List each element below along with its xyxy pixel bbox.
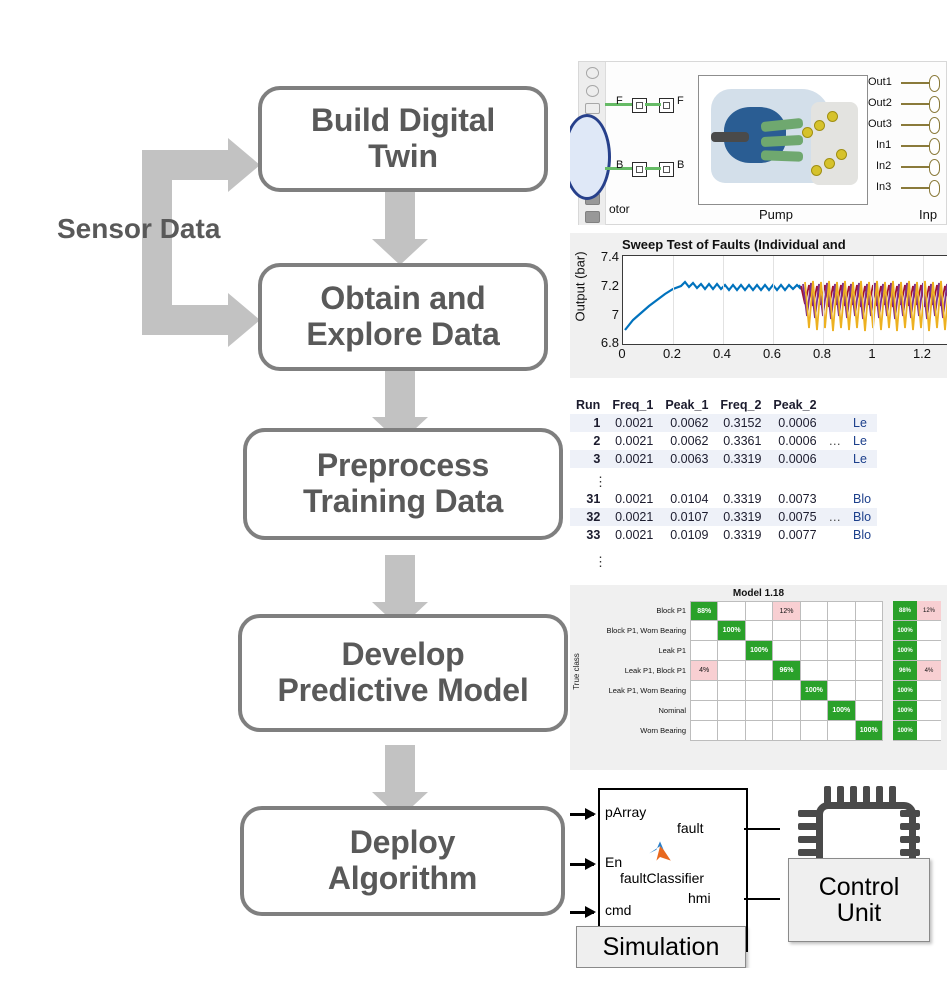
port-label-in1: In1 <box>876 139 891 151</box>
confusion-matrix-cell <box>746 621 773 641</box>
cell-peak2: 0.0006 <box>767 414 822 432</box>
port-label-out1: Out1 <box>868 76 892 88</box>
cell-run: 31 <box>570 490 606 508</box>
confusion-matrix-row: Worn Bearing100%100% <box>578 721 941 741</box>
input-label-parray: pArray <box>605 804 646 820</box>
confusion-matrix-cell <box>801 621 828 641</box>
workflow-step-obtain-explore-data[interactable]: Obtain andExplore Data <box>258 263 548 371</box>
port-label-out3: Out3 <box>868 118 892 130</box>
workflow-step-preprocess-training-data[interactable]: PreprocessTraining Data <box>243 428 563 540</box>
cell-ellipsis <box>823 526 848 544</box>
confusion-matrix-row: Leak P1, Block P14%96%96%4% <box>578 661 941 681</box>
col-freq2: Freq_2 <box>714 396 767 414</box>
port-label-out2: Out2 <box>868 97 892 109</box>
step-label: DevelopPredictive Model <box>277 637 528 709</box>
table-trailing-ellipsis: ⋮ <box>594 554 608 570</box>
cell-run: 33 <box>570 526 606 544</box>
confusion-matrix-title: Model 1.18 <box>570 588 947 599</box>
confusion-matrix-cell <box>718 681 745 701</box>
confusion-matrix-cell <box>690 721 718 741</box>
cell-run: 3 <box>570 450 606 468</box>
chart-plot-area <box>622 255 947 345</box>
confusion-matrix-cell <box>690 701 718 721</box>
connector-arrow-3 <box>385 555 415 603</box>
wire-out1 <box>901 82 931 84</box>
cell-peak2: 0.0075 <box>767 508 822 526</box>
confusion-matrix-cell <box>690 621 718 641</box>
chart-title: Sweep Test of Faults (Individual and <box>622 237 846 252</box>
input-label-cmd: cmd <box>605 902 631 918</box>
col-ellipsis <box>823 396 848 414</box>
confusion-matrix-cell <box>746 661 773 681</box>
confusion-matrix-cell <box>801 721 828 741</box>
table-leading-ellipsis: ⋮ <box>594 474 608 490</box>
chart-series-paths <box>623 256 947 344</box>
input-block-label: Inp <box>919 207 937 222</box>
connector-arrow-1 <box>385 192 415 240</box>
cell-peak2: 0.0006 <box>767 432 822 450</box>
table-row[interactable]: 30.00210.00630.33190.0006Le <box>570 450 877 468</box>
confusion-matrix-cell <box>718 641 745 661</box>
confusion-matrix-summary-correct: 100% <box>893 681 917 701</box>
y-tick-7: 7 <box>579 307 619 322</box>
x-tick-0: 0 <box>605 346 639 361</box>
input-arrow-parray <box>570 813 594 816</box>
step-label: PreprocessTraining Data <box>303 448 503 520</box>
confusion-matrix-cell <box>828 601 855 621</box>
confusion-matrix-cell <box>773 681 800 701</box>
confusion-matrix-cell <box>856 641 883 661</box>
confusion-matrix-cell <box>828 681 855 701</box>
cell-label: Le <box>847 450 877 468</box>
cell-freq2: 0.3361 <box>714 432 767 450</box>
confusion-matrix-cell <box>828 621 855 641</box>
confusion-matrix-cells: 100% <box>690 681 883 701</box>
confusion-matrix-cells: 100% <box>690 621 883 641</box>
cell-run: 2 <box>570 432 606 450</box>
input-arrow-cmd <box>570 911 594 914</box>
confusion-matrix-summary-incorrect <box>917 641 941 661</box>
confusion-matrix-cell: 4% <box>690 661 718 681</box>
feature-table-thumbnail[interactable]: Run Freq_1 Peak_1 Freq_2 Peak_2 10.00210… <box>570 392 947 577</box>
cell-freq2: 0.3152 <box>714 414 767 432</box>
x-tick-1: 1 <box>855 346 889 361</box>
col-peak2: Peak_2 <box>767 396 822 414</box>
cell-freq1: 0.0021 <box>606 432 659 450</box>
confusion-matrix-cell: 100% <box>746 641 773 661</box>
confusion-matrix-row-label: Nominal <box>578 701 690 721</box>
cell-peak2: 0.0073 <box>767 490 822 508</box>
cell-label: Le <box>847 432 877 450</box>
confusion-matrix-cell <box>828 641 855 661</box>
confusion-matrix-cell: 88% <box>690 601 718 621</box>
confusion-matrix-summary-correct: 96% <box>893 661 917 681</box>
input-label-en: En <box>605 854 622 870</box>
confusion-matrix-cell <box>746 701 773 721</box>
connector-out2[interactable] <box>929 96 940 113</box>
confusion-matrix-cell <box>773 721 800 741</box>
cell-label: Blo <box>847 508 877 526</box>
motor-block-label: otor <box>609 202 630 216</box>
step-label: Build DigitalTwin <box>311 103 495 175</box>
cell-peak1: 0.0062 <box>659 414 714 432</box>
control-unit-tag[interactable]: ControlUnit <box>788 858 930 942</box>
cell-ellipsis: … <box>823 508 848 526</box>
wire-in3 <box>901 187 931 189</box>
cell-freq2: 0.3319 <box>714 508 767 526</box>
confusion-matrix-cell <box>690 641 718 661</box>
cell-freq1: 0.0021 <box>606 450 659 468</box>
confusion-matrix-cell <box>801 701 828 721</box>
confusion-matrix-cell: 100% <box>718 621 745 641</box>
port-label-in3: In3 <box>876 181 891 193</box>
wire-out2 <box>901 103 931 105</box>
port-label-f-left: F <box>616 95 623 107</box>
confusion-matrix-cells: 100% <box>690 701 883 721</box>
confusion-matrix-cells: 4%96% <box>690 661 883 681</box>
confusion-matrix-cell <box>828 661 855 681</box>
confusion-matrix-row: Nominal100%100% <box>578 701 941 721</box>
col-run: Run <box>570 396 606 414</box>
confusion-matrix-cell <box>856 701 883 721</box>
input-arrow-en <box>570 863 594 866</box>
cell-peak1: 0.0104 <box>659 490 714 508</box>
confusion-matrix-cell <box>773 641 800 661</box>
confusion-matrix-row-label: Block P1, Worn Bearing <box>578 621 690 641</box>
confusion-matrix-row-label: Worn Bearing <box>578 721 690 741</box>
confusion-matrix-cell <box>746 601 773 621</box>
cell-ellipsis <box>823 414 848 432</box>
confusion-matrix-cell <box>801 641 828 661</box>
confusion-matrix-cells: 88%12% <box>690 601 883 621</box>
output-wire-hmi <box>744 898 780 900</box>
confusion-matrix-summary-correct: 100% <box>893 621 917 641</box>
connector-arrow-4 <box>385 745 415 793</box>
confusion-matrix-cell <box>856 661 883 681</box>
col-peak1: Peak_1 <box>659 396 714 414</box>
pump-illustration <box>705 82 861 194</box>
pump-block[interactable] <box>698 75 868 205</box>
connector-arrow-2 <box>385 370 415 418</box>
cell-ellipsis <box>823 490 848 508</box>
confusion-matrix-cell <box>718 701 745 721</box>
connector-in3[interactable] <box>929 180 940 197</box>
confusion-matrix-cell: 100% <box>828 701 855 721</box>
confusion-matrix-summary-incorrect <box>917 681 941 701</box>
step-label: Obtain andExplore Data <box>306 281 499 353</box>
x-tick-0.6: 0.6 <box>755 346 789 361</box>
workflow-step-build-digital-twin[interactable]: Build DigitalTwin <box>258 86 548 192</box>
cell-label: Le <box>847 414 877 432</box>
feedback-branch-bottom <box>142 305 242 335</box>
confusion-matrix-summary-correct: 100% <box>893 701 917 721</box>
confusion-matrix-cell <box>718 661 745 681</box>
table-header-row: Run Freq_1 Peak_1 Freq_2 Peak_2 <box>570 396 877 414</box>
report-icon[interactable] <box>585 211 600 223</box>
cell-freq1: 0.0021 <box>606 490 659 508</box>
port-label-b-left: B <box>616 159 623 171</box>
output-label-hmi: hmi <box>688 890 711 906</box>
confusion-matrix-cell <box>801 601 828 621</box>
confusion-matrix-thumbnail[interactable]: Model 1.18 True class Block P188%12%88%1… <box>570 585 947 770</box>
simscape-model-thumbnail[interactable]: otor F F B B <box>570 55 947 225</box>
signal-line-f2 <box>645 103 661 106</box>
sensor-data-label: Sensor Data <box>57 213 220 245</box>
confusion-matrix-row: Leak P1, Worn Bearing100%100% <box>578 681 941 701</box>
simulation-tag-label: Simulation <box>603 934 720 960</box>
cell-freq2: 0.3319 <box>714 490 767 508</box>
confusion-matrix-summary-incorrect: 12% <box>917 601 941 621</box>
confusion-matrix-cell <box>690 681 718 701</box>
zoom-icon[interactable] <box>586 85 599 97</box>
cell-peak1: 0.0109 <box>659 526 714 544</box>
output-label-fault: fault <box>677 820 703 836</box>
confusion-matrix-cell <box>856 681 883 701</box>
confusion-matrix-summary-correct: 100% <box>893 641 917 661</box>
connector-in2[interactable] <box>929 159 940 176</box>
wire-out3 <box>901 124 931 126</box>
port-label-in2: In2 <box>876 160 891 172</box>
confusion-matrix-cells: 100% <box>690 641 883 661</box>
port-label-f-right: F <box>677 95 684 107</box>
workflow-step-develop-predictive-model[interactable]: DevelopPredictive Model <box>238 614 568 732</box>
confusion-matrix-cell <box>746 681 773 701</box>
cell-run: 32 <box>570 508 606 526</box>
connector-out1[interactable] <box>929 75 940 92</box>
connector-in1[interactable] <box>929 138 940 155</box>
sweep-test-chart[interactable]: Sweep Test of Faults (Individual and Out… <box>570 233 947 378</box>
confusion-matrix-summary-incorrect <box>917 721 941 741</box>
confusion-matrix-cells: 100% <box>690 721 883 741</box>
cell-freq1: 0.0021 <box>606 414 659 432</box>
port-f-2[interactable] <box>659 98 674 113</box>
x-tick-0.4: 0.4 <box>705 346 739 361</box>
confusion-matrix-row: Block P188%12%88%12% <box>578 601 941 621</box>
cell-ellipsis <box>823 450 848 468</box>
cell-freq2: 0.3319 <box>714 526 767 544</box>
table-row[interactable]: 20.00210.00620.33610.0006…Le <box>570 432 877 450</box>
confusion-matrix-row-label: Leak P1 <box>578 641 690 661</box>
cell-label: Blo <box>847 490 877 508</box>
confusion-matrix-row-label: Leak P1, Worn Bearing <box>578 681 690 701</box>
confusion-matrix-summary-correct: 100% <box>893 721 917 741</box>
port-b-2[interactable] <box>659 162 674 177</box>
table-row-gap <box>570 468 877 490</box>
deployment-thumbnail[interactable]: pArray En cmd fault hmi faultClassifier … <box>570 778 947 968</box>
confusion-matrix-summary-incorrect <box>917 701 941 721</box>
cell-peak1: 0.0107 <box>659 508 714 526</box>
confusion-matrix-cell <box>773 621 800 641</box>
model-canvas: otor F F B B <box>578 61 947 225</box>
x-tick-0.2: 0.2 <box>655 346 689 361</box>
cell-peak1: 0.0062 <box>659 432 714 450</box>
cell-label: Blo <box>847 526 877 544</box>
workflow-diagram: Sensor Data Build DigitalTwin Obtain and… <box>0 0 570 1000</box>
wire-in2 <box>901 166 931 168</box>
connector-out3[interactable] <box>929 117 940 134</box>
confusion-matrix-row: Block P1, Worn Bearing100%100% <box>578 621 941 641</box>
confusion-matrix-summary-incorrect <box>917 621 941 641</box>
confusion-matrix-cell <box>718 601 745 621</box>
cell-peak2: 0.0006 <box>767 450 822 468</box>
col-freq1: Freq_1 <box>606 396 659 414</box>
cell-ellipsis: … <box>823 432 848 450</box>
output-wire-fault <box>744 828 780 830</box>
y-tick-7.4: 7.4 <box>579 249 619 264</box>
confusion-matrix-cell: 100% <box>801 681 828 701</box>
y-tick-7.2: 7.2 <box>579 278 619 293</box>
step-label: DeployAlgorithm <box>328 825 477 897</box>
confusion-matrix-row-label: Leak P1, Block P1 <box>578 661 690 681</box>
col-label <box>847 396 877 414</box>
confusion-matrix-cell: 96% <box>773 661 800 681</box>
wire-in1 <box>901 145 931 147</box>
confusion-matrix-cell <box>801 661 828 681</box>
port-label-b-right: B <box>677 159 684 171</box>
table-row[interactable]: 320.00210.01070.33190.0075…Blo <box>570 508 877 526</box>
confusion-matrix-cell <box>746 721 773 741</box>
series-nominal <box>625 282 801 330</box>
x-tick-0.8: 0.8 <box>805 346 839 361</box>
table-row[interactable]: 10.00210.00620.31520.0006Le <box>570 414 877 432</box>
signal-line-b2 <box>645 167 661 170</box>
confusion-matrix-summary-incorrect: 4% <box>917 661 941 681</box>
confusion-matrix-cell: 12% <box>773 601 800 621</box>
simulation-tag[interactable]: Simulation <box>576 926 746 968</box>
confusion-matrix-cell: 100% <box>856 721 883 741</box>
confusion-matrix-cell <box>828 721 855 741</box>
cell-peak1: 0.0063 <box>659 450 714 468</box>
feedback-arrowhead-bottom <box>228 293 260 347</box>
fit-to-view-icon[interactable] <box>585 103 600 115</box>
cell-freq2: 0.3319 <box>714 450 767 468</box>
workflow-step-deploy-algorithm[interactable]: DeployAlgorithm <box>240 806 565 916</box>
confusion-matrix-cell <box>773 701 800 721</box>
feedback-arrowhead-top <box>228 138 260 192</box>
cell-run: 1 <box>570 414 606 432</box>
feature-table: Run Freq_1 Peak_1 Freq_2 Peak_2 10.00210… <box>570 396 877 544</box>
cell-freq1: 0.0021 <box>606 526 659 544</box>
cell-freq1: 0.0021 <box>606 508 659 526</box>
confusion-matrix-cell <box>856 601 883 621</box>
feedback-branch-top <box>142 150 242 180</box>
fault-classifier-label: faultClassifier <box>620 870 704 886</box>
table-row[interactable]: 310.00210.01040.33190.0073Blo <box>570 490 877 508</box>
pump-block-label: Pump <box>759 207 793 222</box>
confusion-matrix-cell <box>856 621 883 641</box>
matlab-logo-icon <box>648 840 672 862</box>
x-tick-1.2: 1.2 <box>905 346 939 361</box>
control-unit-tag-label: ControlUnit <box>819 874 900 927</box>
pan-icon[interactable] <box>586 67 599 79</box>
confusion-matrix-summary-correct: 88% <box>893 601 917 621</box>
cell-peak2: 0.0077 <box>767 526 822 544</box>
table-row[interactable]: 330.00210.01090.33190.0077Blo <box>570 526 877 544</box>
confusion-matrix-cell <box>718 721 745 741</box>
confusion-matrix-row-label: Block P1 <box>578 601 690 621</box>
confusion-matrix-row: Leak P1100%100% <box>578 641 941 661</box>
